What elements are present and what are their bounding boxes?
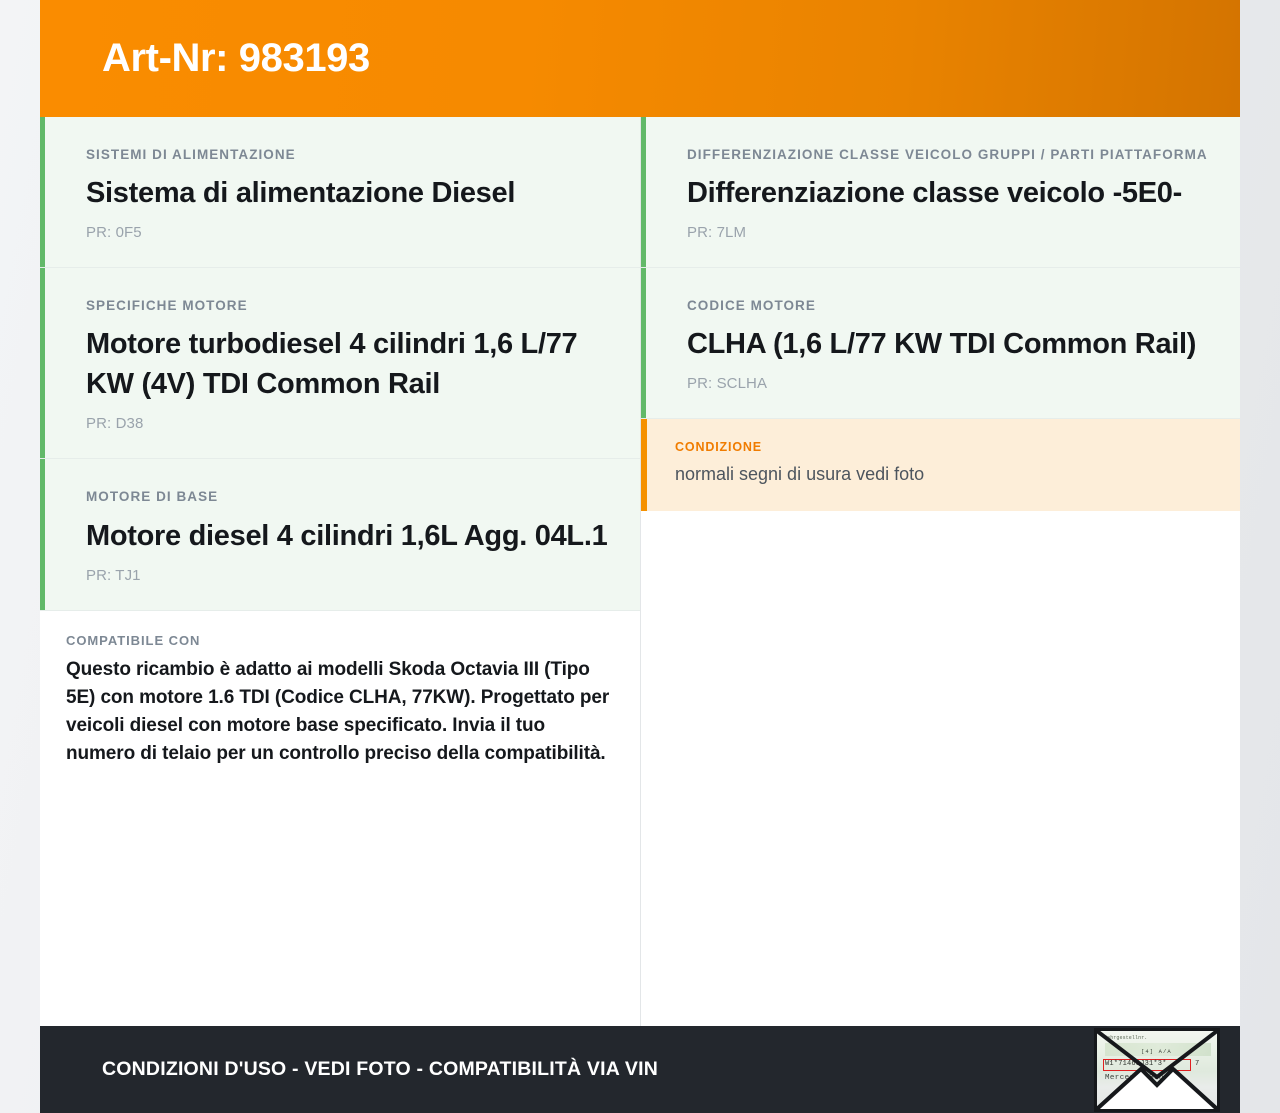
page-header: Art-Nr: 983193 <box>40 0 1240 117</box>
green-accent-bar <box>641 268 646 418</box>
compatibility-text: Questo ricambio è adatto ai modelli Skod… <box>66 656 612 768</box>
condition-label: CONDIZIONE <box>675 439 1212 457</box>
vin-number: W1*71463J31*3* <box>1105 1060 1167 1068</box>
document-field-label: Fahrgestellnr. <box>1104 1035 1147 1041</box>
green-accent-bar <box>641 117 646 267</box>
spec-value: Differenziazione classe veicolo -5E0- <box>687 173 1212 213</box>
green-accent-bar <box>40 459 45 609</box>
condition-value: normali segni di usura vedi foto <box>675 462 1212 487</box>
spec-value: CLHA (1,6 L/77 KW TDI Common Rail) <box>687 324 1212 364</box>
document-code-row: [4] A/A <box>1141 1048 1172 1055</box>
left-column-filler <box>40 794 640 1026</box>
spec-card-differenziazione-classe[interactable]: DIFFERENZIAZIONE CLASSE VEICOLO GRUPPI /… <box>641 117 1240 268</box>
spec-pr-code: PR: 7LM <box>687 224 1212 241</box>
spec-value: Motore turbodiesel 4 cilindri 1,6 L/77 K… <box>86 324 612 404</box>
compatibility-card: COMPATIBILE CON Questo ricambio è adatto… <box>40 611 640 794</box>
spec-value: Motore diesel 4 cilindri 1,6L Agg. 04L.1 <box>86 516 612 556</box>
spec-card-specifiche-motore[interactable]: SPECIFICHE MOTORE Motore turbodiesel 4 c… <box>40 268 640 459</box>
spec-label: SPECIFICHE MOTORE <box>86 296 612 315</box>
vin-document-thumbnail: Fahrgestellnr. [4] A/A W1*71463J31*3* 7 … <box>1097 1031 1217 1109</box>
page-title: Art-Nr: 983193 <box>40 36 370 81</box>
page-footer: CONDIZIONI D'USO - VEDI FOTO - COMPATIBI… <box>40 1026 1240 1113</box>
spec-pr-code: PR: D38 <box>86 415 612 432</box>
footer-notice: CONDIZIONI D'USO - VEDI FOTO - COMPATIBI… <box>102 1058 658 1081</box>
spec-label: DIFFERENZIAZIONE CLASSE VEICOLO GRUPPI /… <box>687 145 1212 164</box>
spec-label: SISTEMI DI ALIMENTAZIONE <box>86 145 612 164</box>
spec-pr-code: PR: 0F5 <box>86 224 612 241</box>
right-column-filler <box>641 511 1240 1026</box>
spec-value: Sistema di alimentazione Diesel <box>86 173 612 213</box>
spec-pr-code: PR: TJ1 <box>86 567 612 584</box>
green-accent-bar <box>40 268 45 458</box>
right-column: DIFFERENZIAZIONE CLASSE VEICOLO GRUPPI /… <box>640 117 1240 1026</box>
condition-card: CONDIZIONE normali segni di usura vedi f… <box>641 419 1240 511</box>
envelope-icon[interactable]: Fahrgestellnr. [4] A/A W1*71463J31*3* 7 … <box>1094 1028 1220 1112</box>
spec-columns: SISTEMI DI ALIMENTAZIONE Sistema di alim… <box>40 117 1240 1026</box>
spec-card-codice-motore[interactable]: CODICE MOTORE CLHA (1,6 L/77 KW TDI Comm… <box>641 268 1240 419</box>
spec-card-sistemi-alimentazione[interactable]: SISTEMI DI ALIMENTAZIONE Sistema di alim… <box>40 117 640 268</box>
left-column: SISTEMI DI ALIMENTAZIONE Sistema di alim… <box>40 117 640 1026</box>
orange-accent-bar <box>641 419 647 511</box>
green-accent-bar <box>40 117 45 267</box>
spec-label: CODICE MOTORE <box>687 296 1212 315</box>
compatibility-label: COMPATIBILE CON <box>66 633 612 648</box>
spec-card-motore-di-base[interactable]: MOTORE DI BASE Motore diesel 4 cilindri … <box>40 459 640 610</box>
product-detail-page: Art-Nr: 983193 SISTEMI DI ALIMENTAZIONE … <box>40 0 1240 1113</box>
spec-label: MOTORE DI BASE <box>86 487 612 506</box>
vin-number-tail: 7 <box>1195 1060 1199 1068</box>
vehicle-brand: Mercedes-Benz <box>1105 1074 1169 1082</box>
spec-pr-code: PR: SCLHA <box>687 375 1212 392</box>
